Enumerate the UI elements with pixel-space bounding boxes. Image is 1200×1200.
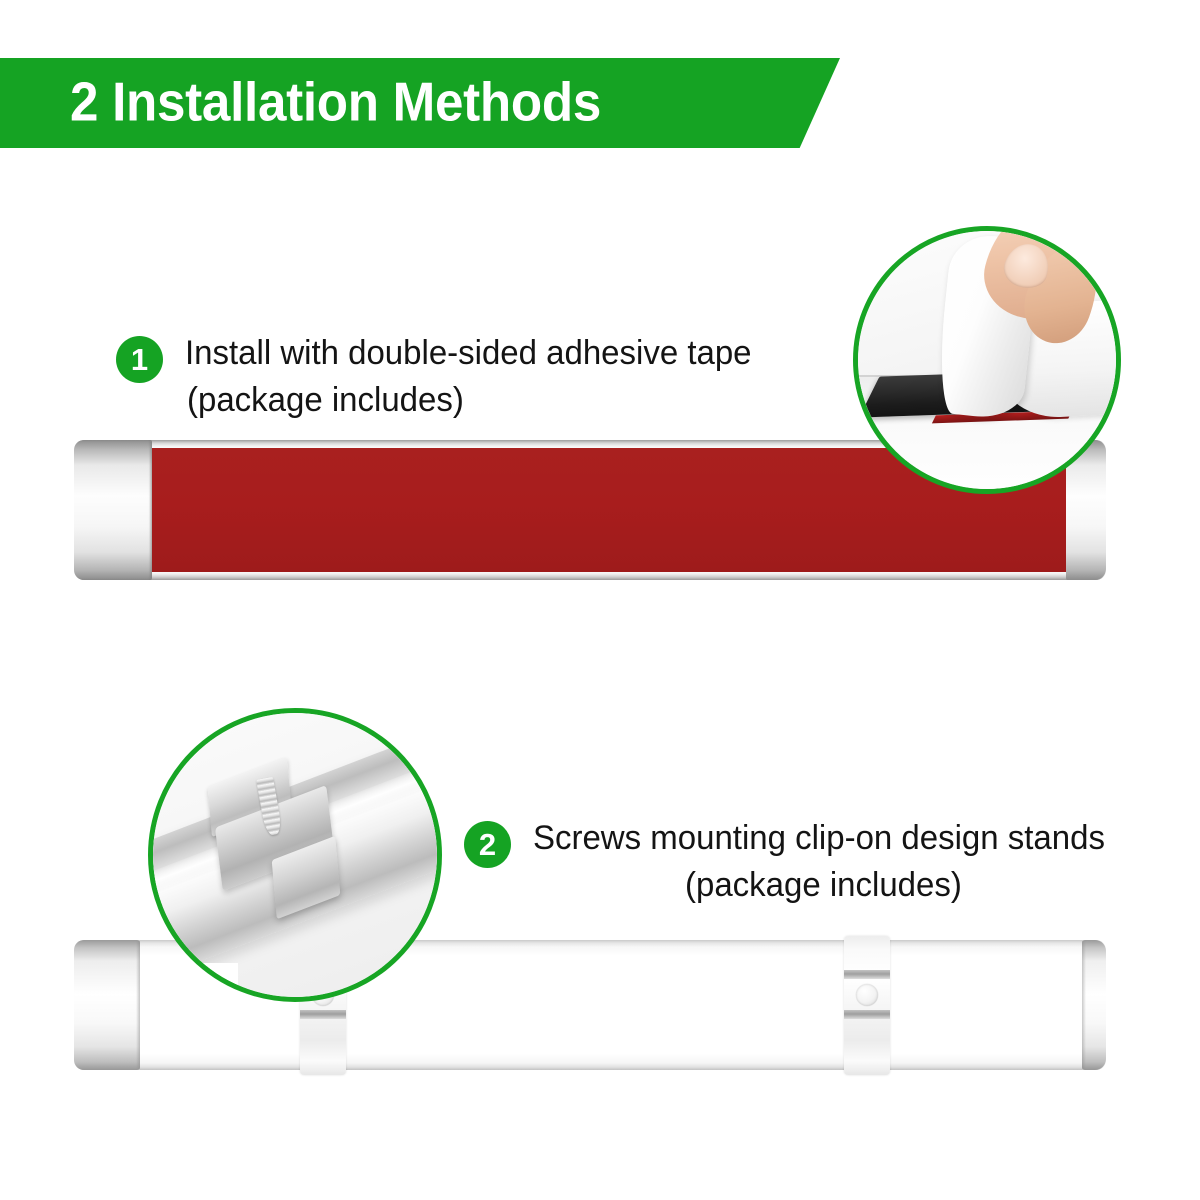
end-cap-left-icon [74, 440, 152, 580]
clip-groove-bottom [844, 1010, 890, 1019]
page-title: 2 Installation Methods [70, 74, 641, 129]
mounting-clip-right [844, 936, 890, 1075]
adhesive-tape-peel-photo [853, 226, 1121, 494]
header-banner: 2 Installation Methods [0, 58, 840, 148]
step-1-line-1: Install with double-sided adhesive tape [185, 330, 769, 377]
step-1-line-2: (package includes) [185, 377, 769, 424]
screw-head-icon [856, 984, 878, 1006]
photo-corner-mask [153, 963, 238, 997]
adhesive-tape-peel-photo-inner [858, 231, 1116, 489]
step-2-line-2-text: (package includes) [685, 862, 962, 909]
step-2-line-2: (package includes) [533, 862, 1123, 909]
metal-clip-screw-mount-photo-inner [153, 713, 437, 997]
step-2-line-1: Screws mounting clip-on design stands [533, 815, 1123, 862]
step-2-line-1-text: Screws mounting clip-on design stands [533, 815, 1105, 862]
step-1-block: 1 Install with double-sided adhesive tap… [116, 330, 769, 424]
clip-groove-bottom [300, 1010, 346, 1019]
step-2-block: 2 Screws mounting clip-on design stands … [464, 815, 1123, 909]
page-title-text: 2 Installation Methods [70, 74, 601, 129]
step-1-text: Install with double-sided adhesive tape … [185, 330, 769, 424]
end-cap-left-2-icon [74, 940, 140, 1070]
step-2-text: Screws mounting clip-on design stands (p… [533, 815, 1123, 909]
metal-clip-screw-mount-photo [148, 708, 442, 1002]
step-1-line-2-text: (package includes) [187, 377, 464, 424]
end-cap-right-2-icon [1082, 940, 1106, 1070]
step-1-line-1-text: Install with double-sided adhesive tape [185, 330, 752, 377]
step-2-badge: 2 [464, 821, 511, 868]
step-1-badge: 1 [116, 336, 163, 383]
clip-groove-top [844, 970, 890, 979]
